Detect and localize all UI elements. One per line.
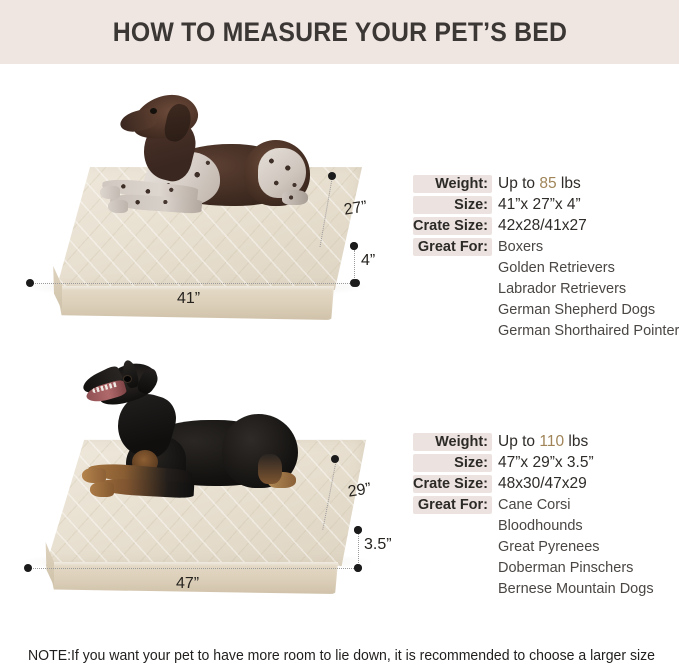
spec-value-crate-2: 48x30/47x29 xyxy=(498,474,587,494)
weight-suffix-1: lbs xyxy=(557,175,581,192)
dog1-rear-paw xyxy=(282,190,308,205)
spec-value-crate-1: 42x28/41x27 xyxy=(498,216,587,236)
spec-value-weight-2: Up to 110 lbs xyxy=(498,432,588,452)
breed-item: German Shorthaired Pointers xyxy=(498,321,679,342)
spec-label-weight-1: Weight: xyxy=(413,174,488,194)
dim-dot-height-bottom-1 xyxy=(350,279,358,287)
dog-photo-2 xyxy=(72,358,312,523)
spec-value-size-1: 41”x 27”x 4” xyxy=(498,195,581,215)
dim-line-height-1 xyxy=(354,250,355,282)
footer-note: NOTE:If you want your pet to have more r… xyxy=(28,648,655,664)
spec-label-size-1: Size: xyxy=(413,195,488,215)
dim-label-length-2: 47” xyxy=(176,575,199,593)
breed-item: Doberman Pinschers xyxy=(498,558,633,579)
spec-label-weight-2: Weight: xyxy=(413,432,488,452)
weight-suffix-2: lbs xyxy=(564,433,588,450)
breed-item: Great Pyrenees xyxy=(498,537,600,558)
dim-label-width-1: 27” xyxy=(343,198,369,219)
spec-label-greatfor-1: Great For: xyxy=(413,237,488,257)
breed-item: Cane Corsi xyxy=(498,495,571,516)
dog2-paw-left xyxy=(82,468,106,483)
spec-label-crate-2: Crate Size: xyxy=(413,474,488,494)
breed-item: German Shepherd Dogs xyxy=(498,300,655,321)
weight-prefix-2: Up to xyxy=(498,433,539,450)
dog2-rear-leg-tan xyxy=(258,454,282,484)
spec-label-size-2: Size: xyxy=(413,453,488,473)
dim-dot-height-bottom-2 xyxy=(354,564,362,572)
dog2-eye xyxy=(124,376,131,382)
dog-photo-1 xyxy=(100,78,320,240)
dog1-eye xyxy=(150,108,157,114)
dim-dot-height-top-2 xyxy=(354,526,362,534)
dim-line-length-2 xyxy=(30,568,358,569)
dim-dot-width-top-1 xyxy=(328,172,336,180)
dog1-paw-right xyxy=(108,200,128,213)
page-header: HOW TO MEASURE YOUR PET’S BED xyxy=(0,0,679,64)
spec-label-greatfor-2: Great For: xyxy=(413,495,488,515)
weight-number-2: 110 xyxy=(539,433,564,450)
weight-prefix-1: Up to xyxy=(498,175,539,192)
dim-label-width-2: 29” xyxy=(347,480,373,501)
spec-label-crate-1: Crate Size: xyxy=(413,216,488,236)
spec-value-weight-1: Up to 85 lbs xyxy=(498,174,581,194)
breed-item: Boxers xyxy=(498,237,543,258)
weight-number-1: 85 xyxy=(539,175,556,192)
breed-item: Bloodhounds xyxy=(498,516,583,537)
dim-dot-height-top-1 xyxy=(350,242,358,250)
dog1-paw-left xyxy=(100,186,120,199)
breed-item: Labrador Retrievers xyxy=(498,279,626,300)
dim-line-length-1 xyxy=(32,283,354,284)
product-block-2: 47” 29” 3.5” Weight: Up to 110 lbs Size:… xyxy=(0,352,679,617)
dim-label-height-2: 3.5” xyxy=(364,536,392,554)
spec-value-size-2: 47”x 29”x 3.5” xyxy=(498,453,594,473)
dim-label-height-1: 4” xyxy=(361,252,375,270)
dim-line-height-2 xyxy=(358,534,359,567)
breed-item: Bernese Mountain Dogs xyxy=(498,579,654,600)
page-title: HOW TO MEASURE YOUR PET’S BED xyxy=(112,17,566,48)
breed-item: Golden Retrievers xyxy=(498,258,615,279)
dim-label-length-1: 41” xyxy=(177,290,200,308)
dog2-paw-right xyxy=(90,482,114,497)
dim-dot-length-left-1 xyxy=(26,279,34,287)
product-block-1: 41” 27” 4” Weight: Up to 85 lbs Size: 41… xyxy=(0,70,679,370)
dim-dot-width-top-2 xyxy=(331,455,339,463)
dim-dot-length-left-2 xyxy=(24,564,32,572)
